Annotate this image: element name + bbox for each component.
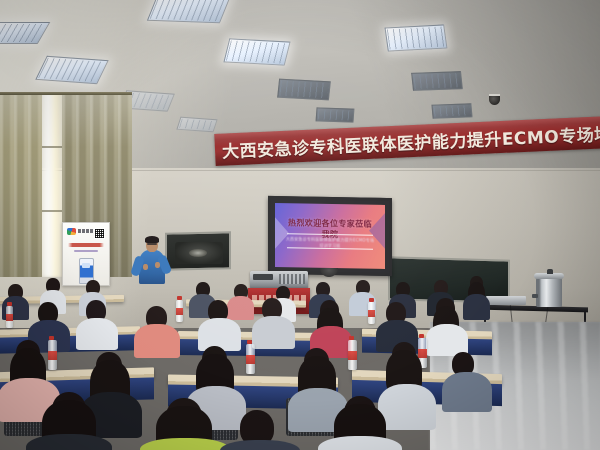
audience-body [134, 324, 180, 358]
ceiling-light-fixture [431, 103, 472, 118]
water-boiler-urn [536, 277, 562, 307]
water-bottle [348, 340, 357, 370]
urn-knob [547, 269, 553, 274]
bottle-label [176, 308, 183, 315]
qr-code-icon [94, 228, 105, 239]
audience-body [252, 316, 295, 349]
presentation-slide: 热烈欢迎各位专家莅临我院 大西安急诊专科医联体医护能力提升ECMO专场培训学习班 [275, 203, 385, 269]
photo-scene: 大西安急诊专科医联体医护能力提升ECMO专场培训学习班 热烈欢迎各位专家莅临我院… [0, 0, 600, 450]
rollup-poster [62, 222, 110, 286]
bottle-label [6, 314, 13, 321]
ceiling-light-fixture [411, 71, 463, 91]
audience-body [76, 318, 118, 350]
ceiling-light-fixture [385, 24, 448, 51]
ceiling-light-fixture [176, 117, 217, 133]
curtain-rod [0, 92, 132, 95]
projection-screen: 热烈欢迎各位专家莅临我院 大西安急诊专科医联体医护能力提升ECMO专场培训学习班 [268, 196, 392, 276]
ceiling-light-fixture [223, 38, 290, 65]
curtain-left [0, 92, 42, 277]
poster-headline [68, 243, 104, 247]
speaker-hand-left [143, 264, 148, 270]
water-bottle [176, 300, 183, 322]
speaker-hand-right [155, 262, 160, 268]
company-logo-icon [67, 228, 76, 235]
av-equipment-box [486, 296, 526, 305]
audience-body [318, 436, 402, 450]
bottle-label [368, 310, 375, 317]
audience-body [220, 440, 300, 450]
ceiling-light-fixture [147, 0, 231, 23]
audience-body [442, 372, 492, 412]
bottle-label [48, 351, 57, 360]
audience-body [227, 296, 254, 320]
water-bottle [48, 340, 57, 370]
speaker-glasses-icon [147, 243, 157, 245]
water-bottle [6, 306, 13, 328]
bottle-label [418, 349, 427, 358]
ceiling-light-fixture [316, 107, 355, 122]
water-bottle [368, 302, 375, 324]
audience-body [463, 294, 490, 320]
audience-body [378, 384, 436, 430]
ceiling-light-fixture [277, 79, 331, 101]
audience-body [26, 434, 112, 450]
slide-rule [287, 247, 373, 250]
ceiling-light-fixture [35, 56, 109, 84]
poster-subline [74, 250, 98, 252]
urn-tap [532, 294, 538, 298]
water-bottle [246, 344, 255, 374]
wall-speaker-icon [175, 242, 223, 264]
speaker-hair [145, 236, 159, 243]
bottle-label [246, 355, 255, 364]
bottle-label [348, 351, 357, 360]
